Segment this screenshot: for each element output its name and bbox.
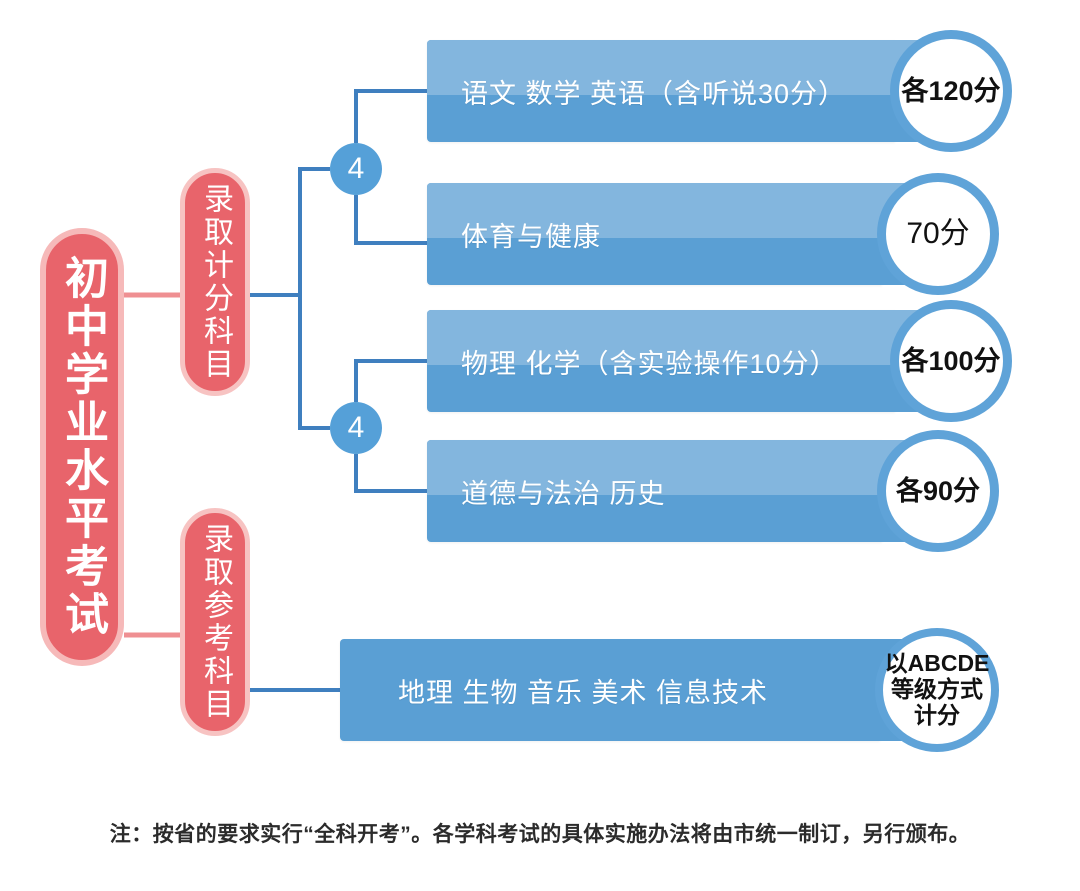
connector-lower-to-row3 — [356, 361, 427, 402]
score-line: 计分 — [885, 703, 990, 729]
subject-label: 地理 生物 音乐 美术 信息技术 — [398, 639, 768, 741]
score-circle: 各90分 — [877, 430, 999, 552]
score-circle: 70分 — [877, 173, 999, 295]
subject-label: 物理 化学（含实验操作10分） — [461, 310, 838, 412]
score-line: 70分 — [906, 217, 969, 251]
subject-row: 语文 数学 英语（含听说30分） 各120分 — [427, 40, 1040, 142]
score-line: 各100分 — [901, 346, 1000, 376]
footnote-text: 注：按省的要求实行“全科开考”。各学科考试的具体实施办法将由市统一制订，另行颁布… — [0, 818, 1080, 848]
score-line: 以ABCDE — [885, 651, 990, 677]
score-circle: 以ABCDE 等级方式 计分 — [875, 628, 999, 752]
connector-upper-to-row1 — [356, 91, 427, 143]
count-badge-upper-group: 4 — [330, 143, 382, 195]
subject-row: 体育与健康 70分 — [427, 183, 1040, 285]
connector-scored-trunk-lower — [300, 295, 330, 428]
subject-label: 语文 数学 英语（含听说30分） — [461, 40, 846, 142]
subject-label: 体育与健康 — [461, 183, 601, 285]
score-circle: 各120分 — [890, 30, 1012, 152]
subject-row: 道德与法治 历史 各90分 — [427, 440, 1040, 542]
root-node-exam-title: 初中学业水平考试 — [40, 228, 124, 666]
connector-lower-to-row4 — [356, 454, 427, 491]
count-badge-lower-group: 4 — [330, 402, 382, 454]
branch-node-reference-subjects: 录取参考科目 — [180, 508, 250, 736]
subject-label: 道德与法治 历史 — [461, 440, 666, 542]
score-circle: 各100分 — [890, 300, 1012, 422]
diagram-canvas: 初中学业水平考试 录取计分科目 录取参考科目 4 4 语文 数学 英语（含听说3… — [0, 0, 1080, 891]
branch-node-scored-subjects: 录取计分科目 — [180, 168, 250, 396]
score-line: 各90分 — [896, 476, 980, 506]
score-line: 各120分 — [901, 76, 1000, 106]
subject-row: 地理 生物 音乐 美术 信息技术 以ABCDE 等级方式 计分 — [340, 639, 1040, 741]
score-line: 等级方式 — [885, 677, 990, 703]
connector-upper-to-row2 — [356, 195, 427, 243]
subject-row: 物理 化学（含实验操作10分） 各100分 — [427, 310, 1040, 412]
connector-scored-trunk — [250, 169, 330, 295]
